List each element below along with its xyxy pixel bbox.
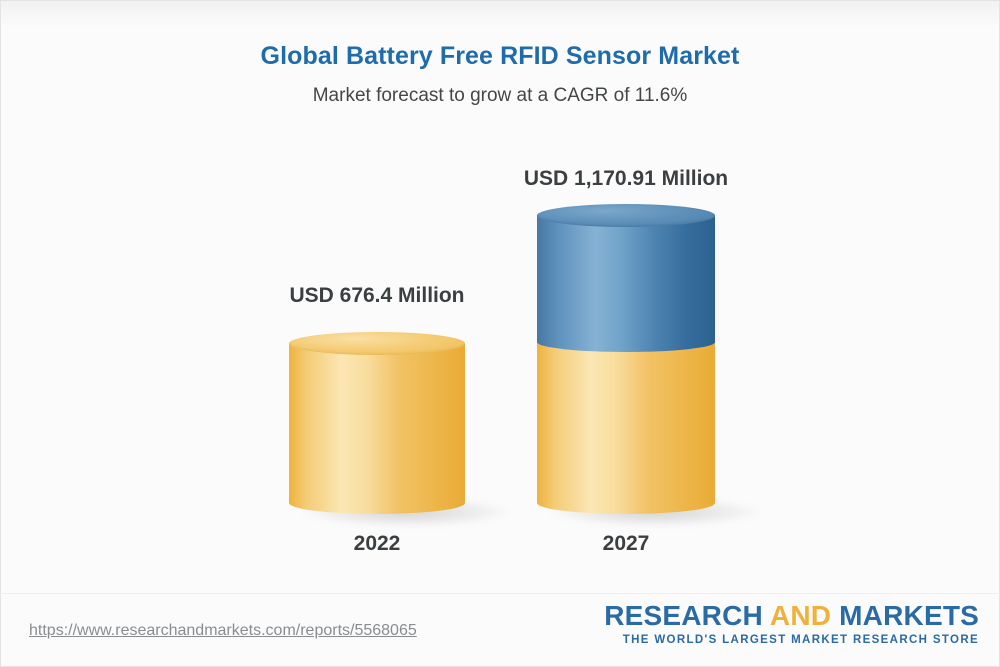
bar-2027-gold-segment <box>537 341 715 503</box>
bar-2027-top-cap <box>537 204 715 227</box>
bar-2027[interactable] <box>537 204 715 514</box>
brand-tagline: THE WORLD'S LARGEST MARKET RESEARCH STOR… <box>604 632 979 648</box>
category-label-2027: 2027 <box>537 532 715 556</box>
bar-2022[interactable] <box>289 332 465 514</box>
brand-word-markets: MARKETS <box>839 600 979 631</box>
bar-2022-body <box>289 343 465 503</box>
plot-area: USD 676.4 Million USD 1,170.91 Million 2… <box>1 1 1000 667</box>
bar-2027-blue-segment <box>537 215 715 343</box>
bar-2027-segment-divider <box>537 332 715 352</box>
value-label-2022: USD 676.4 Million <box>189 284 565 308</box>
footer-divider <box>2 593 998 594</box>
bar-2022-top-cap <box>289 332 465 355</box>
chart-canvas: Global Battery Free RFID Sensor Market M… <box>0 0 1000 667</box>
brand-logo[interactable]: RESEARCH AND MARKETS THE WORLD'S LARGEST… <box>604 601 979 648</box>
brand-word-and: AND <box>770 600 831 631</box>
value-label-2027: USD 1,170.91 Million <box>438 167 814 191</box>
category-label-2022: 2022 <box>289 532 465 556</box>
source-url-link[interactable]: https://www.researchandmarkets.com/repor… <box>29 622 417 640</box>
brand-word-research: RESEARCH <box>604 600 763 631</box>
brand-wordmark: RESEARCH AND MARKETS <box>604 601 979 631</box>
